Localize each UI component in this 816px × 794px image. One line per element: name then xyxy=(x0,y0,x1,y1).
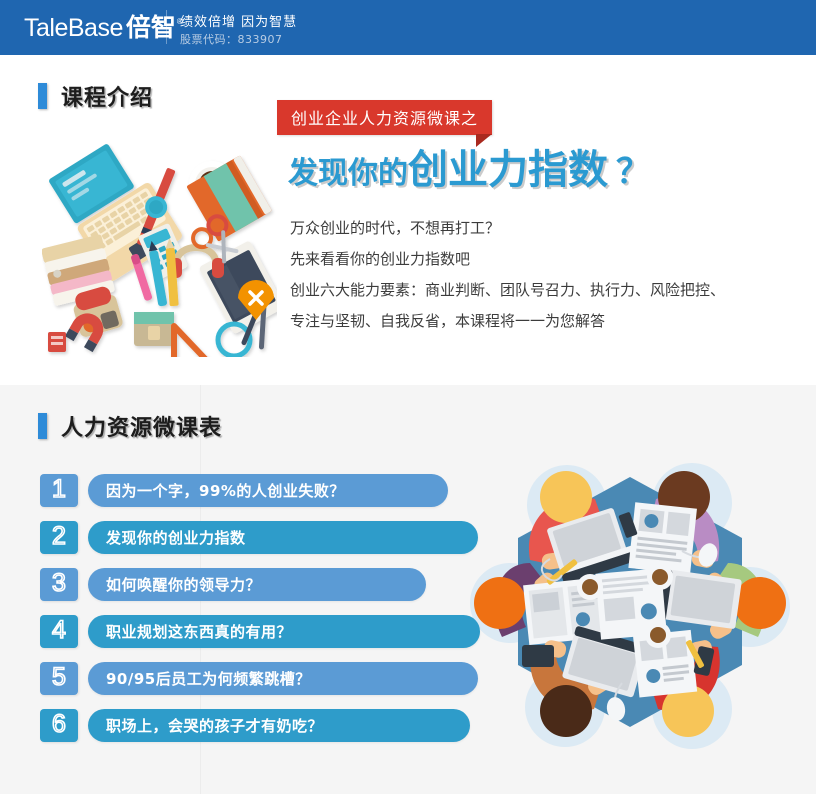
logo-latin-text: TaleBase xyxy=(24,14,123,43)
course-title: 发现你的创业力指数 xyxy=(88,527,246,548)
course-number-badge: 1 xyxy=(40,474,78,507)
course-number-badge: 3 xyxy=(40,568,78,601)
page-title-part-2: 创业力指数 xyxy=(408,147,608,193)
course-number-badge: 6 xyxy=(40,709,78,742)
course-bar[interactable]: 90/95后员工为何频繁跳槽？ xyxy=(88,662,478,695)
page-title-part-1: 发现你的 xyxy=(288,156,408,191)
course-number: 3 xyxy=(52,571,66,596)
list-item[interactable]: 3 如何唤醒你的领导力？ xyxy=(40,568,480,601)
ribbon-tail-icon xyxy=(476,134,492,147)
course-title: 职场上，会哭的孩子才有奶吃？ xyxy=(88,715,323,736)
heading-accent-bar-icon xyxy=(38,83,47,109)
intro-line-4: 专注与坚韧、自我反省，本课程将一一为您解答 xyxy=(290,306,800,337)
course-number-badge: 5 xyxy=(40,662,78,695)
course-bar[interactable]: 职场上，会哭的孩子才有奶吃？ xyxy=(88,709,470,742)
course-bar[interactable]: 职业规划这东西真的有用？ xyxy=(88,615,480,648)
list-item[interactable]: 5 90/95后员工为何频繁跳槽？ xyxy=(40,662,480,695)
course-bar[interactable]: 如何唤醒你的领导力？ xyxy=(88,568,426,601)
course-list: 1 因为一个字，99%的人创业失败？ 2 发现你的创业力指数 3 如何唤醒你的领… xyxy=(40,474,480,756)
section-title-text: 人力资源微课表 xyxy=(61,410,222,442)
poster-page: TaleBase倍智® 绩效倍增 因为智慧 股票代码：833907 课程介绍 xyxy=(0,0,816,794)
intro-line-1: 万众创业的时代，不想再打工？ xyxy=(290,213,800,244)
list-item[interactable]: 4 职业规划这东西真的有用？ xyxy=(40,615,480,648)
brand-logo[interactable]: TaleBase倍智® xyxy=(24,8,181,44)
list-item[interactable]: 6 职场上，会哭的孩子才有奶吃？ xyxy=(40,709,480,742)
section-title-text: 课程介绍 xyxy=(61,80,153,112)
course-title: 职业规划这东西真的有用？ xyxy=(88,621,292,642)
course-bar[interactable]: 发现你的创业力指数 xyxy=(88,521,478,554)
header-divider xyxy=(166,10,167,44)
page-title: 发现你的创业力指数？ xyxy=(288,150,650,190)
header-stock-code: 股票代码：833907 xyxy=(180,31,283,47)
flat-desk-workspace-illustration xyxy=(42,132,277,357)
section-heading-intro: 课程介绍 xyxy=(38,80,153,112)
heading-accent-bar-icon xyxy=(38,413,47,439)
course-title: 90/95后员工为何频繁跳槽？ xyxy=(88,668,311,689)
header-tagline: 绩效倍增 因为智慧 xyxy=(180,11,297,30)
logo-chinese-text: 倍智 xyxy=(126,8,176,44)
list-item[interactable]: 1 因为一个字，99%的人创业失败？ xyxy=(40,474,480,507)
course-number: 2 xyxy=(52,524,66,549)
site-header: TaleBase倍智® 绩效倍增 因为智慧 股票代码：833907 xyxy=(0,0,816,55)
course-number: 5 xyxy=(52,665,66,690)
section-heading-schedule: 人力资源微课表 xyxy=(38,410,222,442)
course-number: 6 xyxy=(52,712,66,737)
intro-line-2: 先来看看你的创业力指数吧 xyxy=(290,244,800,275)
list-item[interactable]: 2 发现你的创业力指数 xyxy=(40,521,480,554)
course-title: 如何唤醒你的领导力？ xyxy=(88,574,261,595)
course-number: 1 xyxy=(52,477,66,502)
page-title-question-mark: ？ xyxy=(616,152,650,192)
ribbon-label: 创业企业人力资源微课之 xyxy=(277,100,492,135)
intro-copy: 万众创业的时代，不想再打工？ 先来看看你的创业力指数吧 创业六大能力要素：商业判… xyxy=(290,213,800,337)
course-number: 4 xyxy=(52,618,66,643)
course-title: 因为一个字，99%的人创业失败？ xyxy=(88,480,345,501)
team-meeting-top-view-illustration xyxy=(470,455,810,755)
course-bar[interactable]: 因为一个字，99%的人创业失败？ xyxy=(88,474,448,507)
course-series-ribbon: 创业企业人力资源微课之 xyxy=(277,100,492,135)
course-number-badge: 2 xyxy=(40,521,78,554)
course-number-badge: 4 xyxy=(40,615,78,648)
intro-line-3: 创业六大能力要素：商业判断、团队号召力、执行力、风险把控、 xyxy=(290,275,800,306)
